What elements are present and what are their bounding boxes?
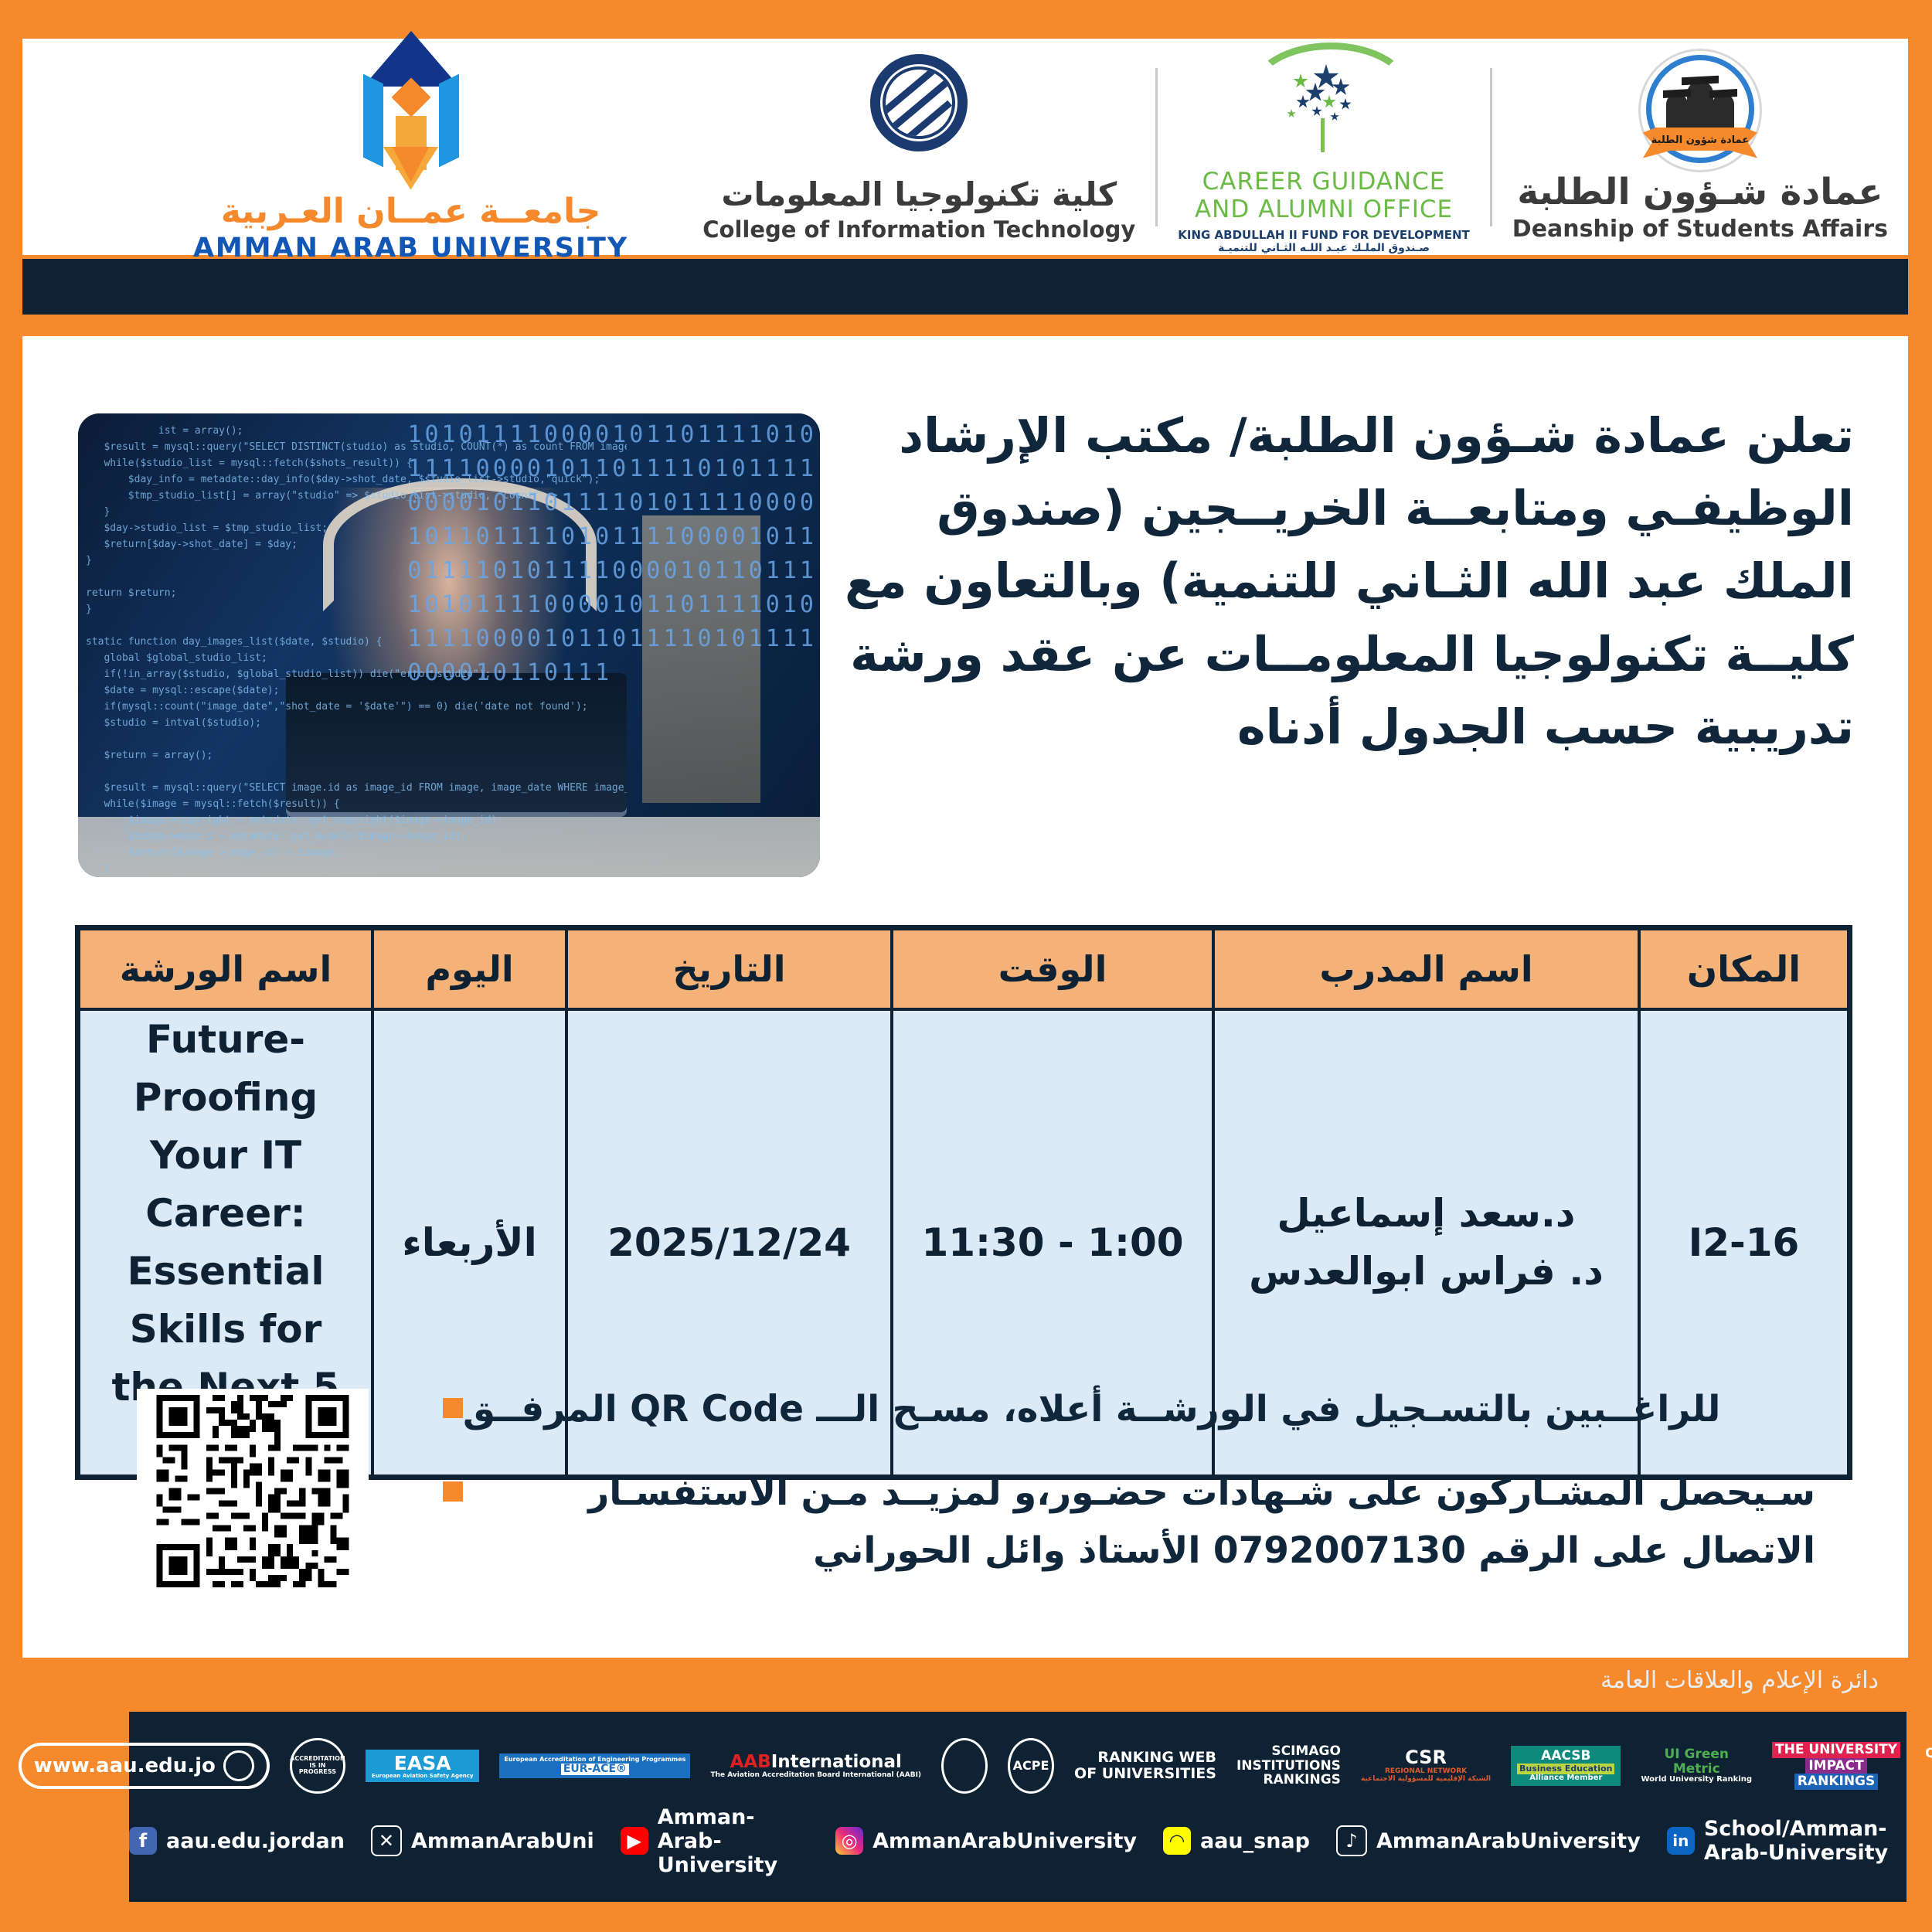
- hero-section: ist = array(); $result = mysql::query("S…: [23, 336, 1909, 900]
- table-header-row: المكان اسم المدرب الوقت التاريخ اليوم اس…: [79, 928, 1851, 1010]
- acc-accreditation-in-progress-icon: ACCREDITATIONIS IN PROGRESS: [291, 1738, 346, 1794]
- acc-eur-ace-icon: European Accreditation of Engineering Pr…: [500, 1753, 691, 1778]
- note-item: للراغــبين بالتسـجيل في الورشــة أعلاه، …: [427, 1381, 1856, 1438]
- header-left-logos: عمادة شؤون الطلبة عمادة شـؤون الطلبة Dea…: [683, 39, 1909, 255]
- accreditation-logos-row: DNV AAUQA QS UNIVERSITY RANKINGS ARAB RE…: [130, 1726, 1907, 1806]
- acc-qs-rankings-icon: QS UNIVERSITY RANKINGS ARAB REGION: [1921, 1743, 1932, 1788]
- header-logo-bar: عمادة شؤون الطلبة عمادة شـؤون الطلبة Dea…: [23, 39, 1909, 255]
- hero-image: ist = array(); $result = mysql::query("S…: [79, 413, 821, 877]
- tiktok-handle: AmmanArabUniversity: [1377, 1829, 1641, 1853]
- logo-career-guidance-and-alumni-office: CAREER GUIDANCE AND ALUMNI OFFICE KING A…: [1158, 39, 1491, 255]
- logo-amman-arab-university: جامعــة عمــان العـربية AMMAN ARAB UNIVE…: [174, 39, 683, 255]
- college-it-title-en: College of Information Technology: [703, 219, 1136, 241]
- social-linkedin[interactable]: in School/Amman-Arab-University: [1668, 1817, 1907, 1865]
- logo-deanship-of-students-affairs: عمادة شؤون الطلبة عمادة شـؤون الطلبة Dea…: [1493, 39, 1909, 255]
- career-guidance-subtitle-ar: صـندوق الملـك عبـد اللـه الثـاني للتنميـ…: [1219, 242, 1430, 254]
- x-twitter-handle: AmmanArabUni: [412, 1829, 595, 1853]
- facebook-icon: f: [130, 1827, 158, 1855]
- linkedin-icon: in: [1668, 1827, 1696, 1855]
- logo-college-of-information-technology: كلية تكنولوجيا المعلومات College of Info…: [683, 39, 1156, 255]
- social-facebook[interactable]: f aau.edu.jordan: [130, 1827, 345, 1855]
- social-youtube[interactable]: ▶ Amman-Arab-University: [621, 1805, 810, 1877]
- linkedin-handle: School/Amman-Arab-University: [1705, 1817, 1907, 1865]
- youtube-icon: ▶: [621, 1827, 649, 1855]
- social-tiktok[interactable]: ♪ AmmanArabUniversity: [1337, 1825, 1641, 1856]
- social-snapchat[interactable]: ◠ aau_snap: [1164, 1827, 1311, 1855]
- social-x-twitter[interactable]: ✕ AmmanArabUni: [372, 1825, 595, 1856]
- th-trainer: اسم المدرب: [1214, 928, 1640, 1010]
- aau-title-ar: جامعــة عمــان العـربية: [222, 192, 601, 231]
- th-place: المكان: [1640, 928, 1851, 1010]
- career-guidance-title-en-2: AND ALUMNI OFFICE: [1196, 196, 1454, 223]
- qr-code[interactable]: [138, 1389, 369, 1594]
- note-text-1: للراغــبين بالتسـجيل في الورشــة أعلاه، …: [464, 1381, 1721, 1438]
- notes-section: للراغــبين بالتسـجيل في الورشــة أعلاه، …: [23, 1372, 1909, 1627]
- website-pill[interactable]: www.aau.edu.jo: [19, 1743, 270, 1789]
- x-twitter-icon: ✕: [372, 1825, 403, 1856]
- youtube-handle: Amman-Arab-University: [658, 1805, 810, 1877]
- facebook-handle: aau.edu.jordan: [167, 1829, 345, 1853]
- poster-root: عمادة شؤون الطلبة عمادة شـؤون الطلبة Dea…: [0, 0, 1932, 1932]
- instagram-icon: ◎: [836, 1827, 864, 1855]
- th-day: اليوم: [373, 928, 567, 1010]
- aau-crest-icon: [342, 31, 481, 185]
- acc-ranking-web-icon: RANKING WEB OF UNIVERSITIES: [1075, 1750, 1217, 1781]
- career-guidance-subtitle-en: KING ABDULLAH II FUND FOR DEVELOPMENT: [1179, 228, 1471, 242]
- tiktok-icon: ♪: [1337, 1825, 1368, 1856]
- trainer-name-2: د. فراس ابوالعدس: [1216, 1243, 1638, 1301]
- note-text-2: سـيحصل المشـاركون على شـهادات حضـور،و لم…: [464, 1464, 1816, 1580]
- footer-department-label: دائرة الإعلام والعلاقات العامة: [1601, 1667, 1879, 1694]
- acc-aacsb-icon: AACSB Business Education Alliance Member: [1512, 1746, 1621, 1785]
- notes-list: للراغــبين بالتسـجيل في الورشــة أعلاه، …: [427, 1381, 1856, 1606]
- snapchat-handle: aau_snap: [1201, 1829, 1311, 1853]
- bullet-square-icon: [444, 1398, 464, 1418]
- career-guidance-title-en-1: CAREER GUIDANCE: [1203, 168, 1447, 196]
- footer: دائرة الإعلام والعلاقات العامة DNV AAUQA…: [130, 1712, 1907, 1902]
- bullet-square-icon: [444, 1481, 464, 1502]
- instagram-handle: AmmanArabUniversity: [873, 1829, 1138, 1853]
- snapchat-icon: ◠: [1164, 1827, 1192, 1855]
- acc-scimago-icon: SCIMAGO INSTITUTIONS RANKINGS: [1237, 1744, 1342, 1787]
- social-links-row: f aau.edu.jordan ✕ AmmanArabUni ▶ Amman-…: [130, 1814, 1907, 1868]
- globe-icon: [224, 1750, 255, 1781]
- deanship-title-en: Deanship of Students Affairs: [1513, 218, 1889, 241]
- th-workshop: اسم الورشة: [79, 928, 374, 1010]
- acc-aab-international-icon: AABInternational The Aviation Accreditat…: [711, 1753, 922, 1780]
- poster-body: ist = array(); $result = mysql::query("S…: [23, 336, 1909, 1658]
- acc-ui-greenmetric-icon: UI Green Metric World University Ranking: [1641, 1747, 1753, 1784]
- announcement-headline: تعلن عمادة شـؤون الطلبة/ مكتب الإرشاد ال…: [835, 400, 1855, 764]
- hero-binary-overlay: 1010111100001011011110101111000010110111…: [405, 413, 821, 877]
- trainer-name-1: د.سعد إسماعيل: [1216, 1185, 1638, 1243]
- header-navy-strip: [23, 259, 1909, 315]
- career-guidance-tree-icon: [1247, 39, 1402, 171]
- deanship-emblem-icon: عمادة شؤون الطلبة: [1636, 53, 1766, 169]
- th-date: التاريخ: [567, 928, 893, 1010]
- acc-islamic-accreditation-icon: [942, 1738, 988, 1794]
- acc-csr-regional-network-icon: CSR REGIONAL NETWORK الشبكة الإقليمية لل…: [1362, 1748, 1492, 1783]
- acc-acpe-international-icon: ACPE: [1009, 1738, 1055, 1794]
- acc-easa-icon: EASA European Aviation Safety Agency: [366, 1750, 481, 1783]
- acc-the-impact-rankings-icon: THE UNIVERSITY IMPACT RANKINGS: [1773, 1742, 1901, 1789]
- th-time: الوقت: [893, 928, 1214, 1010]
- deanship-ribbon-text: عمادة شؤون الطلبة: [1652, 134, 1750, 146]
- website-text: www.aau.edu.jo: [35, 1754, 216, 1777]
- deanship-title-ar: عمادة شـؤون الطلبة: [1518, 174, 1883, 210]
- college-it-circuit-icon: [846, 53, 993, 180]
- college-it-title-ar: كلية تكنولوجيا المعلومات: [722, 179, 1117, 211]
- social-instagram[interactable]: ◎ AmmanArabUniversity: [836, 1827, 1138, 1855]
- note-item: سـيحصل المشـاركون على شـهادات حضـور،و لم…: [427, 1464, 1856, 1580]
